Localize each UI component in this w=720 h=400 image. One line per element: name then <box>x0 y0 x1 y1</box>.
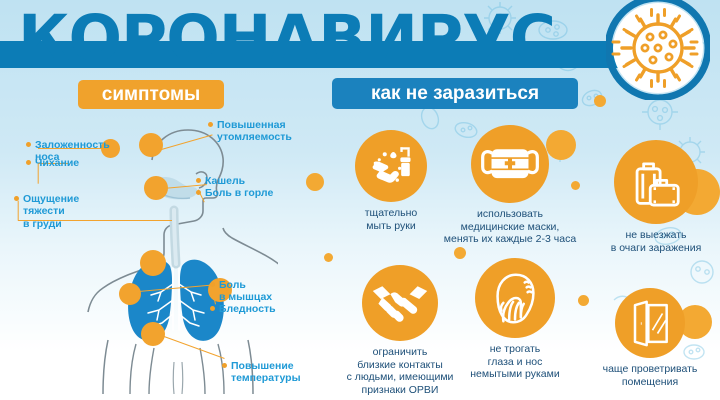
symptom-line: Бледность <box>210 303 276 315</box>
open-window-icon <box>615 288 685 358</box>
prevention-item-wash-hands[interactable]: тщательно мыть руки <box>335 130 447 232</box>
bullet-dot-icon <box>196 190 201 195</box>
prevention-caption: использовать медицинские маски, менять и… <box>434 208 586 246</box>
prevention-item-ventilate[interactable]: чаще проветривать помещения <box>582 288 718 388</box>
coronavirus-icon <box>606 0 710 100</box>
bullet-dot-icon <box>210 306 215 311</box>
symptom-line: Кашель <box>196 175 245 187</box>
symptom-label-fever: Повышение температуры <box>222 360 301 385</box>
bullet-dot-icon <box>14 196 19 201</box>
bullet-dot-icon <box>26 142 31 147</box>
marker-dot-abdomen <box>141 322 165 346</box>
marker-dot-chest <box>140 250 166 276</box>
prevention-section-badge: как не заразиться <box>332 78 578 109</box>
title-band: КОРОНАВИРУС <box>0 41 648 68</box>
coronavirus-infographic: КОРОНАВИРУС симптомы как не заразиться <box>0 0 720 400</box>
page-title: КОРОНАВИРУС <box>18 7 555 70</box>
symptom-line: температуры <box>222 372 301 384</box>
decorative-dot <box>594 95 606 107</box>
symptom-label-muscle: Боль в мышцах <box>210 279 272 304</box>
symptom-label-pallor: Бледность <box>210 303 276 315</box>
symptom-label-chest: Ощущение тяжести в груди <box>14 193 79 230</box>
symptom-label-sneezing: Чихание <box>26 157 79 169</box>
prevention-item-limit-contact[interactable]: ограничить близкие контакты с людьми, им… <box>330 265 470 396</box>
symptom-label-throat: Боль в горле <box>196 187 273 199</box>
prevention-caption: не выезжать в очаги заражения <box>592 229 720 254</box>
decorative-dot <box>324 253 333 262</box>
symptom-line: Боль в горле <box>196 187 273 199</box>
symptom-line: Боль <box>210 279 272 291</box>
marker-dot-head <box>139 133 163 157</box>
symptom-line: Повышение <box>222 360 301 372</box>
touching-face-icon <box>475 258 555 338</box>
symptom-line: Заложенность <box>26 139 110 151</box>
prevention-item-masks[interactable]: использовать медицинские маски, менять и… <box>434 125 586 246</box>
bullet-dot-icon <box>196 178 201 183</box>
suitcases-icon <box>614 140 698 224</box>
medical-mask-icon <box>471 125 549 203</box>
prevention-caption: чаще проветривать помещения <box>582 363 718 388</box>
decorative-dot <box>306 173 324 191</box>
symptoms-section-badge: симптомы <box>78 80 224 109</box>
symptom-label-fatigue: Повышенная утомляемость <box>208 119 292 144</box>
symptom-line: Ощущение <box>14 193 79 205</box>
symptom-line: тяжести <box>14 205 79 217</box>
marker-dot-muscle <box>119 283 141 305</box>
prevention-item-dont-touch-face[interactable]: не трогать глаза и нос немытыми руками <box>452 258 578 381</box>
prevention-caption: тщательно мыть руки <box>335 207 447 232</box>
marker-dot-throat <box>144 176 168 200</box>
prevention-item-no-travel[interactable]: не выезжать в очаги заражения <box>592 140 720 254</box>
bullet-dot-icon <box>210 282 215 287</box>
symptom-line: Чихание <box>26 157 79 169</box>
bullet-dot-icon <box>222 363 227 368</box>
bullet-dot-icon <box>208 122 213 127</box>
prevention-caption: не трогать глаза и нос немытыми руками <box>452 343 578 381</box>
handwashing-icon <box>355 130 427 202</box>
bullet-dot-icon <box>26 160 31 165</box>
symptom-label-cough: Кашель <box>196 175 245 187</box>
prevention-caption: ограничить близкие контакты с людьми, им… <box>330 346 470 396</box>
symptom-line: в груди <box>14 218 79 230</box>
handshake-icon <box>362 265 438 341</box>
symptom-line: Повышенная <box>208 119 292 131</box>
symptom-line: утомляемость <box>208 131 292 143</box>
symptom-line: в мышцах <box>210 291 272 303</box>
